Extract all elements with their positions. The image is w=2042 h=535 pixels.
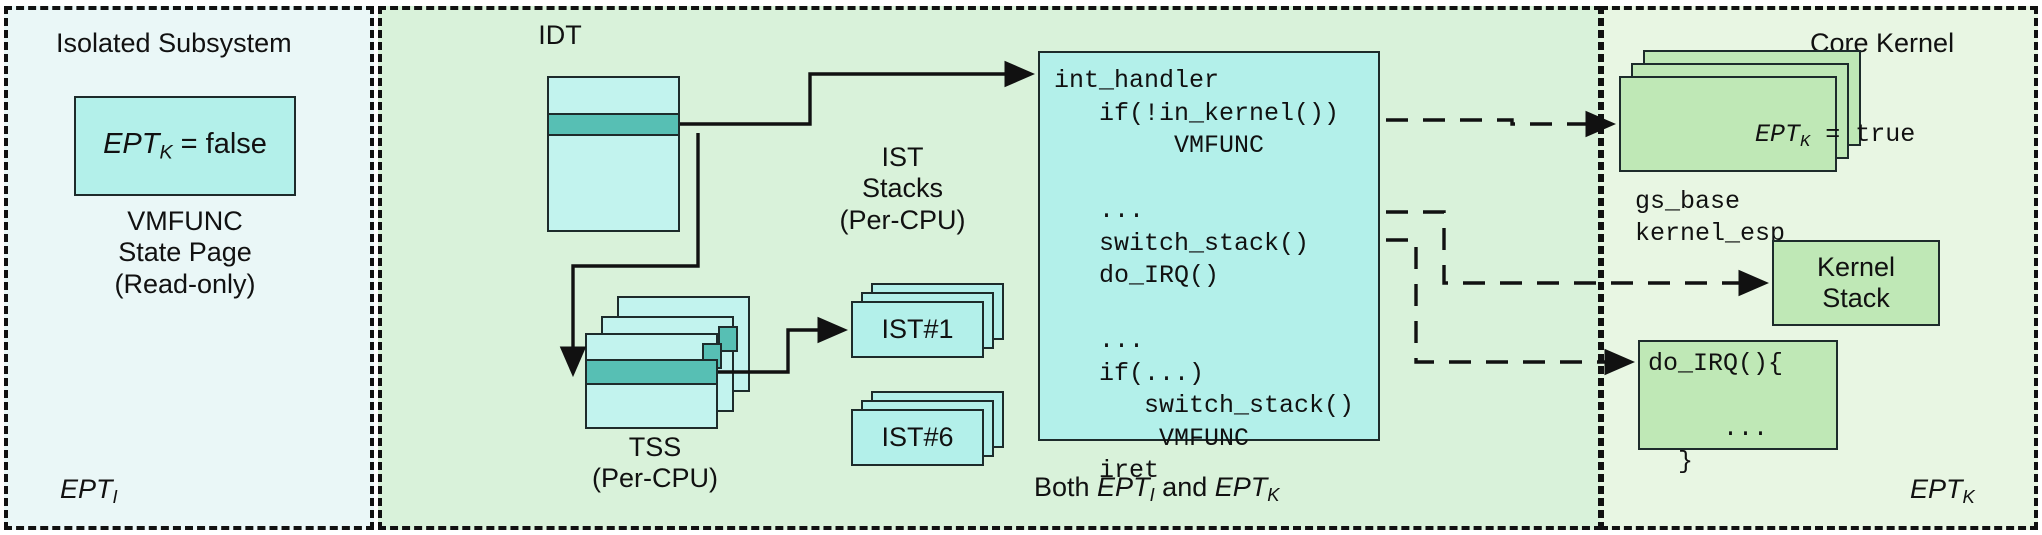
kernel-state-box-front: EPTK = true gs_base kernel_esp bbox=[1619, 76, 1837, 172]
diagram-canvas: Isolated Subsystem Core Kernel EPTI Both… bbox=[0, 0, 2042, 535]
ept-k-false-text: EPTK = false bbox=[103, 128, 267, 165]
kernel-ept-subscript: K bbox=[1800, 132, 1810, 151]
ept-k-false-subscript: K bbox=[159, 141, 172, 163]
kernel-ept-tail: = true bbox=[1810, 120, 1915, 149]
ept-k-base-core: EPT bbox=[1910, 474, 1963, 504]
tss-caption: TSS (Per-CPU) bbox=[575, 432, 735, 495]
kernel-ept-base: EPT bbox=[1755, 120, 1800, 149]
panel-footer-core: EPTK bbox=[1910, 474, 1975, 508]
int-handler-code-box: int_handler if(!in_kernel()) VMFUNC ... … bbox=[1038, 51, 1380, 441]
tss-selected-entry-front bbox=[585, 359, 718, 385]
panel-footer-isolated: EPTI bbox=[60, 474, 118, 508]
idt-label: IDT bbox=[500, 20, 620, 51]
kernel-state-line-ept: EPTK = true bbox=[1635, 86, 1915, 186]
idt-table-bottom bbox=[547, 134, 680, 232]
panel-title-isolated: Isolated Subsystem bbox=[56, 28, 292, 59]
vmfunc-state-page-caption: VMFUNC State Page (Read-only) bbox=[74, 206, 296, 300]
int-handler-code: int_handler if(!in_kernel()) VMFUNC ... … bbox=[1054, 65, 1354, 488]
ist1-label: IST#1 bbox=[881, 314, 953, 345]
idt-table-top bbox=[547, 76, 680, 115]
do-irq-box: do_IRQ(){ ... } bbox=[1638, 340, 1838, 450]
ept-k-subscript-core: K bbox=[1963, 486, 1975, 507]
ept-k-false-base: EPT bbox=[103, 128, 159, 160]
ept-i-base: EPT bbox=[60, 474, 113, 504]
ist-stacks-caption: IST Stacks (Per-CPU) bbox=[820, 142, 985, 236]
vmfunc-state-page-box: EPTK = false bbox=[74, 96, 296, 196]
ept-k-false-tail: = false bbox=[173, 128, 267, 160]
idt-selected-entry bbox=[547, 113, 680, 136]
kernel-stack-box: Kernel Stack bbox=[1772, 240, 1940, 326]
kernel-state-line-gsbase: gs_base bbox=[1635, 186, 1915, 219]
ist1-box-front[interactable]: IST#1 bbox=[851, 301, 984, 358]
ept-i-subscript: I bbox=[113, 486, 118, 507]
kernel-stack-label: Kernel Stack bbox=[1817, 252, 1895, 315]
ist6-label: IST#6 bbox=[881, 422, 953, 453]
do-irq-code: do_IRQ(){ ... } bbox=[1648, 348, 1783, 478]
ist6-box-front[interactable]: IST#6 bbox=[851, 409, 984, 466]
